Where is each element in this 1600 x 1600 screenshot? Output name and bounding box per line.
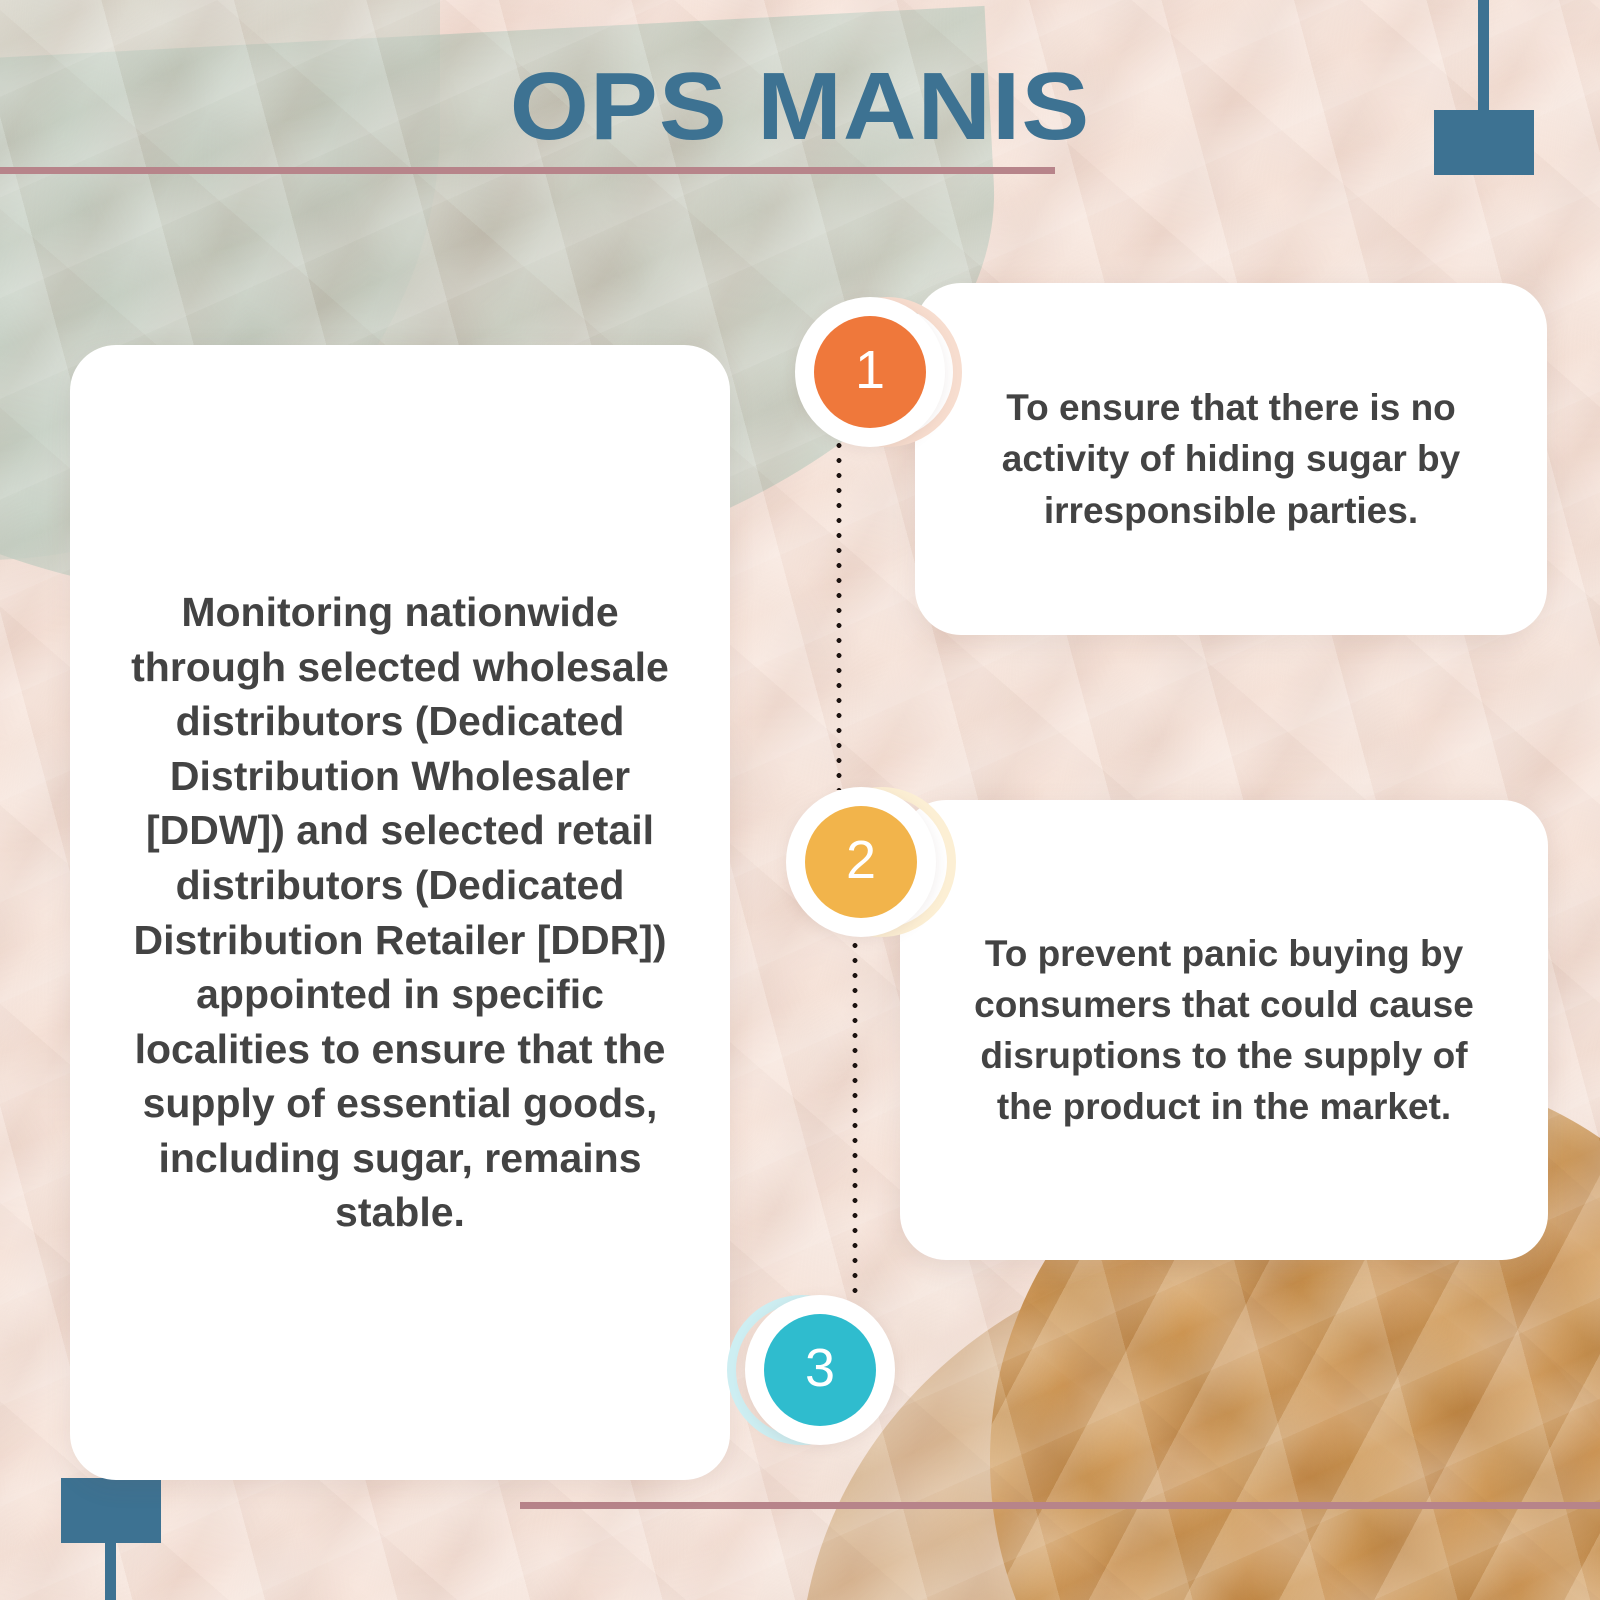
step-1-card: To ensure that there is no activity of h… <box>915 283 1547 635</box>
step-3-badge[interactable]: 3 <box>745 1295 895 1445</box>
page-title: OPS MANIS <box>0 52 1600 162</box>
step-3-number: 3 <box>764 1314 876 1426</box>
step-1-badge[interactable]: 1 <box>795 297 945 447</box>
step-2-badge[interactable]: 2 <box>786 787 936 937</box>
main-description-text: Monitoring nationwide through selected w… <box>118 585 682 1239</box>
bottom-rule <box>520 1502 1600 1509</box>
step-1-text: To ensure that there is no activity of h… <box>967 382 1495 535</box>
main-description-card: Monitoring nationwide through selected w… <box>70 345 730 1480</box>
pin-stem <box>105 1538 116 1600</box>
step-2-card: To prevent panic buying by consumers tha… <box>900 800 1548 1260</box>
step-1-number: 1 <box>814 316 926 428</box>
top-rule <box>0 167 1055 174</box>
step-2-text: To prevent panic buying by consumers tha… <box>948 928 1500 1132</box>
infographic-canvas: OPS MANIS Monitoring nationwide through … <box>0 0 1600 1600</box>
dotted-connector-segment-2 <box>852 938 858 1300</box>
pin-head <box>61 1478 161 1543</box>
step-2-number: 2 <box>805 806 917 918</box>
dotted-connector-segment-1 <box>836 438 842 790</box>
